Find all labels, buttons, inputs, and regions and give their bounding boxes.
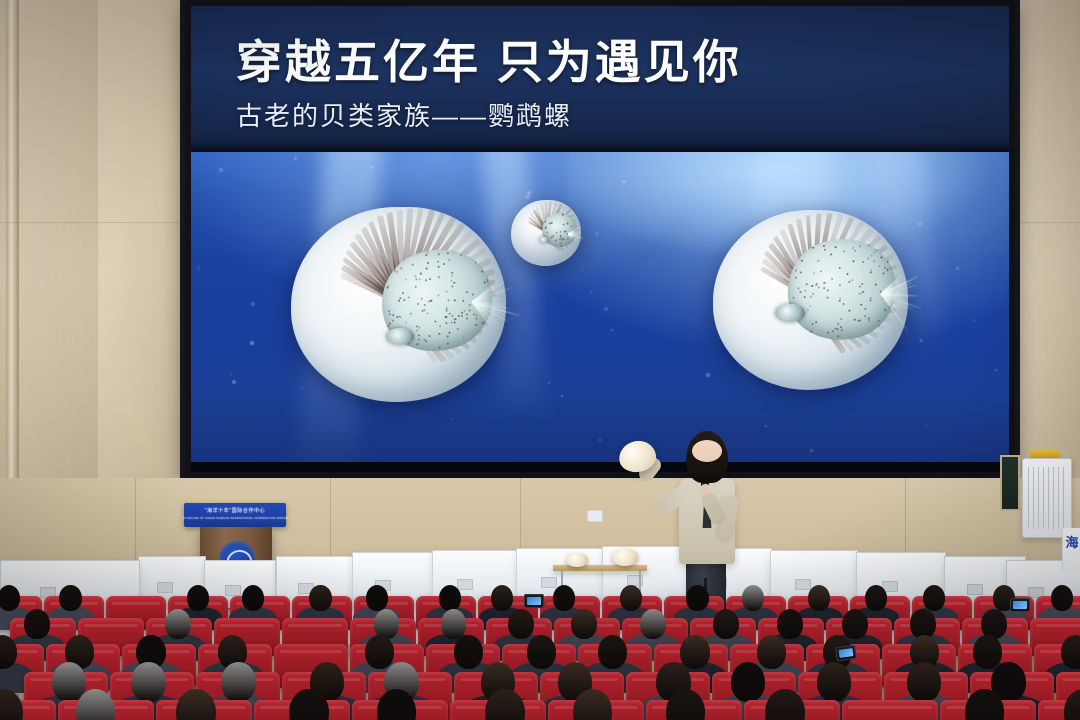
- hood-speckle: [838, 322, 840, 324]
- hood-speckle: [871, 255, 873, 257]
- hood-speckle: [421, 297, 424, 300]
- cabinet-handle: [795, 579, 811, 590]
- audience-head: [817, 662, 851, 702]
- hood-speckle: [839, 266, 841, 268]
- hood-speckle: [418, 338, 421, 341]
- slide-subtitle: 古老的贝类家族——鹦鹉螺: [236, 96, 572, 133]
- hood-speckle: [446, 290, 449, 293]
- hood-speckle: [875, 249, 877, 251]
- audience-head: [713, 609, 739, 639]
- hood-speckle: [879, 248, 881, 250]
- hood-speckle: [858, 292, 860, 294]
- presenter-left-hand: [700, 484, 711, 495]
- hood-speckle: [858, 285, 860, 287]
- hood-speckle: [793, 297, 795, 299]
- bubble-icon: [925, 425, 928, 428]
- hood-speckle: [446, 322, 449, 325]
- audience-head: [640, 609, 666, 639]
- hood-speckle: [389, 313, 392, 316]
- led-presentation-screen: 穿越五亿年 只为遇见你 古老的贝类家族——鹦鹉螺: [185, 0, 1015, 478]
- bubble-icon: [810, 449, 813, 452]
- hood-speckle: [580, 242, 581, 244]
- hood-speckle: [439, 333, 442, 336]
- bubble-icon: [251, 302, 255, 306]
- nautilus-eye: [539, 237, 549, 243]
- hood-speckle: [878, 265, 880, 267]
- hood-speckle: [804, 290, 806, 292]
- audience-head: [527, 635, 556, 669]
- bubble-icon: [219, 168, 223, 172]
- hood-speckle: [812, 292, 814, 294]
- hood-speckle: [427, 261, 430, 264]
- hood-speckle: [464, 309, 467, 312]
- hood-speckle: [882, 272, 884, 274]
- hood-speckle: [426, 268, 429, 271]
- hood-speckle: [447, 299, 450, 302]
- hood-speckle: [419, 326, 422, 329]
- hood-speckle: [839, 284, 841, 286]
- hood-speckle: [451, 315, 454, 318]
- hood-speckle: [867, 257, 869, 259]
- hood-speckle: [846, 273, 848, 275]
- hood-speckle: [827, 296, 829, 298]
- hood-speckle: [447, 335, 450, 338]
- hood-speckle: [429, 277, 432, 280]
- hood-speckle: [809, 304, 811, 306]
- hood-speckle: [798, 287, 800, 289]
- hood-speckle: [568, 214, 570, 216]
- audience-head: [620, 585, 642, 611]
- hood-speckle: [443, 262, 446, 265]
- hood-speckle: [824, 249, 826, 251]
- hood-speckle: [482, 321, 485, 324]
- cabinet-handle: [541, 577, 557, 588]
- hood-speckle: [800, 270, 802, 272]
- audience-head: [221, 662, 255, 702]
- hood-speckle: [544, 227, 546, 229]
- hood-speckle: [815, 321, 817, 323]
- hood-speckle: [427, 251, 430, 254]
- smartphone-icon: [835, 645, 857, 662]
- hood-speckle: [425, 254, 428, 257]
- presenter-hair: [686, 431, 728, 483]
- hood-speckle: [838, 300, 840, 302]
- hood-speckle: [827, 289, 829, 291]
- hood-speckle: [818, 259, 820, 261]
- bubble-icon: [294, 157, 298, 161]
- hood-speckle: [881, 256, 883, 258]
- hood-speckle: [451, 285, 454, 288]
- hood-speckle: [554, 239, 556, 241]
- hood-speckle: [561, 214, 563, 216]
- hood-speckle: [869, 271, 871, 273]
- hood-speckle: [447, 252, 450, 255]
- hood-speckle: [806, 308, 808, 310]
- hood-speckle: [811, 323, 813, 325]
- bubble-icon: [581, 269, 583, 271]
- bubble-icon: [416, 153, 417, 154]
- audience-head: [454, 635, 483, 669]
- wall-socket: [587, 510, 603, 522]
- bubble-icon: [527, 191, 531, 195]
- bubble-icon: [451, 418, 453, 420]
- nautilus-illustration: [291, 207, 506, 402]
- hood-speckle: [419, 272, 422, 275]
- hood-speckle: [837, 335, 839, 337]
- hood-speckle: [475, 314, 478, 317]
- hood-speckle: [392, 314, 395, 317]
- hood-speckle: [799, 291, 801, 293]
- smartphone-icon: [1010, 598, 1030, 612]
- hood-speckle: [812, 246, 814, 248]
- audience-head: [571, 609, 597, 639]
- slide-title: 穿越五亿年 只为遇见你: [236, 26, 742, 92]
- bubble-icon: [659, 393, 660, 394]
- hood-speckle: [555, 232, 557, 234]
- hood-speckle: [439, 325, 442, 328]
- hood-speckle: [410, 313, 413, 316]
- hood-speckle: [402, 292, 405, 295]
- bubble-icon: [250, 341, 253, 344]
- hood-speckle: [415, 278, 418, 281]
- hood-speckle: [567, 238, 569, 240]
- hood-speckle: [853, 259, 855, 261]
- hood-speckle: [406, 322, 409, 325]
- hood-speckle: [466, 318, 469, 321]
- nautilus-specimen: [566, 553, 588, 567]
- radiator-label: [1030, 450, 1060, 458]
- hood-speckle: [835, 246, 837, 248]
- hood-speckle: [859, 245, 861, 247]
- bubble-icon: [706, 373, 710, 377]
- hood-speckle: [800, 259, 802, 261]
- hood-speckle: [401, 267, 404, 270]
- hood-speckle: [827, 331, 829, 333]
- smartphone-icon: [524, 594, 544, 608]
- podium-sign: “海洋十年”国际合作中心 UN DECADE OF OCEAN SCIENCE …: [184, 503, 286, 527]
- audience-head: [309, 585, 331, 611]
- side-banner-text: 海: [1065, 532, 1078, 551]
- hood-speckle: [874, 283, 876, 285]
- hood-speckle: [414, 285, 417, 288]
- hood-speckle: [476, 318, 479, 321]
- audience-head: [24, 609, 50, 639]
- side-banner: 海: [1062, 528, 1080, 572]
- bubble-icon: [772, 433, 773, 434]
- hood-speckle: [551, 235, 553, 237]
- cabinet-handle: [225, 585, 241, 596]
- specimen-display-table: [553, 565, 647, 571]
- bubble-icon: [232, 380, 236, 384]
- audience-head: [366, 585, 388, 611]
- hood-speckle: [797, 257, 799, 259]
- hood-speckle: [570, 226, 572, 228]
- hood-speckle: [816, 283, 818, 285]
- audience-head: [1051, 585, 1073, 611]
- hood-speckle: [868, 243, 870, 245]
- hood-speckle: [396, 271, 399, 274]
- audience-head: [757, 635, 786, 669]
- hood-speckle: [394, 267, 397, 270]
- hood-speckle: [438, 294, 441, 297]
- bubble-icon: [611, 329, 613, 331]
- bubble-icon: [604, 307, 608, 311]
- nautilus-eye: [386, 328, 414, 345]
- hood-speckle: [562, 223, 564, 225]
- hood-speckle: [451, 272, 454, 275]
- nautilus-specimen: [612, 548, 638, 566]
- hood-speckle: [795, 260, 797, 262]
- cabinet-handle: [157, 582, 173, 593]
- hood-speckle: [387, 325, 390, 328]
- hood-speckle: [466, 313, 469, 316]
- wall-radiator: [1022, 458, 1072, 538]
- bubble-icon: [973, 319, 976, 322]
- hood-speckle: [438, 276, 441, 279]
- hood-speckle: [460, 254, 463, 257]
- hood-speckle: [566, 223, 568, 225]
- hood-speckle: [468, 309, 471, 312]
- wall-board: [1000, 455, 1020, 511]
- hood-speckle: [843, 250, 845, 252]
- hood-speckle: [819, 270, 821, 272]
- hood-speckle: [795, 269, 797, 271]
- hood-speckle: [453, 281, 456, 284]
- audience-head: [598, 635, 627, 669]
- hood-speckle: [424, 303, 427, 306]
- audience-head: [553, 585, 575, 611]
- hood-speckle: [867, 317, 869, 319]
- hood-speckle: [849, 310, 851, 312]
- hood-speckle: [803, 296, 805, 298]
- audience-head: [365, 635, 394, 669]
- audience-head: [131, 662, 165, 702]
- hood-speckle: [823, 287, 825, 289]
- hood-speckle: [864, 307, 866, 309]
- audience-head: [242, 585, 264, 611]
- nautilus-illustration: [511, 200, 581, 266]
- audience-head: [491, 585, 513, 611]
- hood-speckle: [840, 317, 842, 319]
- hood-speckle: [843, 303, 845, 305]
- cabinet-handle: [967, 584, 983, 595]
- hood-speckle: [454, 321, 457, 324]
- hood-speckle: [830, 253, 832, 255]
- podium-sign-text: “海洋十年”国际合作中心: [205, 508, 266, 514]
- hood-speckle: [439, 346, 442, 349]
- bubble-icon: [622, 180, 626, 184]
- hood-speckle: [869, 299, 871, 301]
- audience-head: [865, 585, 887, 611]
- bubble-icon: [995, 369, 997, 371]
- hood-speckle: [873, 259, 875, 261]
- hood-speckle: [864, 314, 866, 316]
- hood-speckle: [813, 271, 815, 273]
- hood-speckle: [822, 281, 824, 283]
- audience-head: [187, 585, 209, 611]
- hood-speckle: [481, 270, 484, 273]
- hood-speckle: [454, 299, 457, 302]
- hood-speckle: [425, 279, 428, 282]
- hood-speckle: [817, 286, 819, 288]
- hood-speckle: [398, 299, 401, 302]
- hood-speckle: [418, 334, 421, 337]
- bubble-icon: [525, 195, 529, 199]
- hood-speckle: [483, 281, 486, 284]
- audience-head: [731, 662, 765, 702]
- hood-speckle: [388, 322, 391, 325]
- audience-head: [907, 662, 941, 702]
- hood-speckle: [434, 320, 437, 323]
- audience-head: [842, 609, 868, 639]
- underwater-background: [191, 152, 1009, 462]
- hood-speckle: [407, 296, 410, 299]
- hood-speckle: [884, 308, 886, 310]
- hood-speckle: [437, 260, 440, 263]
- hood-speckle: [823, 245, 825, 247]
- hood-speckle: [548, 222, 550, 224]
- hood-speckle: [839, 297, 841, 299]
- hood-speckle: [472, 293, 475, 296]
- hood-speckle: [455, 318, 458, 321]
- nautilus-eye: [775, 304, 804, 322]
- hood-speckle: [412, 264, 415, 267]
- hood-speckle: [851, 279, 853, 281]
- hood-speckle: [463, 336, 466, 339]
- audience-head: [808, 585, 830, 611]
- bubble-icon: [599, 439, 602, 442]
- hood-speckle: [890, 267, 892, 269]
- slide-canvas: 穿越五亿年 只为遇见你 古老的贝类家族——鹦鹉螺: [191, 0, 1009, 462]
- wall-seam: [0, 222, 186, 223]
- bubble-icon: [197, 267, 200, 270]
- hood-speckle: [393, 319, 396, 322]
- audience-head: [59, 585, 81, 611]
- hood-speckle: [417, 329, 420, 332]
- slide-header-band: 穿越五亿年 只为遇见你 古老的贝类家族——鹦鹉螺: [191, 0, 1009, 152]
- nautilus-illustration: [713, 210, 908, 390]
- hood-speckle: [437, 253, 440, 256]
- hood-speckle: [403, 299, 406, 302]
- bubble-icon: [956, 267, 959, 270]
- audience-head: [508, 609, 534, 639]
- audience-head: [973, 635, 1002, 669]
- bubble-icon: [230, 373, 232, 375]
- bubble-icon: [548, 382, 550, 384]
- audience-head: [742, 585, 764, 611]
- hood-speckle: [546, 232, 548, 234]
- hood-speckle: [831, 278, 833, 280]
- hood-speckle: [854, 249, 856, 251]
- audience-head: [165, 609, 191, 639]
- hood-speckle: [805, 283, 807, 285]
- hood-speckle: [448, 332, 451, 335]
- hood-speckle: [419, 278, 422, 281]
- hood-speckle: [559, 231, 561, 233]
- hood-speckle: [810, 295, 812, 297]
- hood-speckle: [862, 261, 864, 263]
- hood-speckle: [841, 329, 843, 331]
- hood-speckle: [425, 340, 428, 343]
- bubble-icon: [591, 291, 593, 293]
- bubble-icon: [929, 280, 930, 281]
- hood-speckle: [416, 343, 419, 346]
- wall-seam: [1015, 222, 1080, 223]
- hood-speckle: [404, 278, 407, 281]
- hood-speckle: [810, 330, 812, 332]
- hood-speckle: [878, 325, 880, 327]
- hood-speckle: [399, 296, 402, 299]
- hood-speckle: [544, 220, 546, 222]
- audience-head: [923, 585, 945, 611]
- hood-speckle: [424, 309, 427, 312]
- hood-speckle: [466, 291, 469, 294]
- hood-speckle: [417, 302, 420, 305]
- hood-speckle: [840, 325, 842, 327]
- auditorium-seat: [842, 700, 938, 720]
- photo-scene: 穿越五亿年 只为遇见你 古老的贝类家族——鹦鹉螺: [0, 0, 1080, 720]
- hood-speckle: [448, 259, 451, 262]
- audience-head: [441, 609, 467, 639]
- hood-speckle: [811, 285, 813, 287]
- hood-speckle: [451, 275, 454, 278]
- hood-speckle: [446, 309, 449, 312]
- hood-speckle: [860, 303, 862, 305]
- audience-head: [777, 609, 803, 639]
- hood-speckle: [873, 252, 875, 254]
- hood-speckle: [475, 324, 478, 327]
- bubble-icon: [561, 395, 563, 397]
- hood-speckle: [427, 312, 430, 315]
- audience-head: [439, 585, 461, 611]
- bubble-icon: [765, 425, 767, 427]
- hood-speckle: [388, 310, 391, 313]
- podium-sign-text-en: UN DECADE OF OCEAN SCIENCE INTERNATIONAL…: [182, 517, 288, 520]
- bubble-icon: [324, 173, 325, 174]
- hood-speckle: [562, 238, 564, 240]
- hood-speckle: [487, 280, 490, 283]
- hood-speckle: [859, 319, 861, 321]
- hood-speckle: [862, 282, 864, 284]
- hood-speckle: [457, 328, 460, 331]
- hood-speckle: [447, 343, 450, 346]
- hood-speckle: [853, 319, 855, 321]
- hood-speckle: [438, 265, 441, 268]
- hood-speckle: [848, 281, 850, 283]
- hood-speckle: [794, 276, 796, 278]
- hood-speckle: [462, 300, 465, 303]
- audience-head: [680, 635, 709, 669]
- hood-speckle: [461, 315, 464, 318]
- hood-speckle: [429, 335, 432, 338]
- hood-speckle: [877, 319, 879, 321]
- bubble-icon: [370, 166, 373, 169]
- audience-head: [686, 585, 708, 611]
- cabinet-handle: [457, 579, 473, 590]
